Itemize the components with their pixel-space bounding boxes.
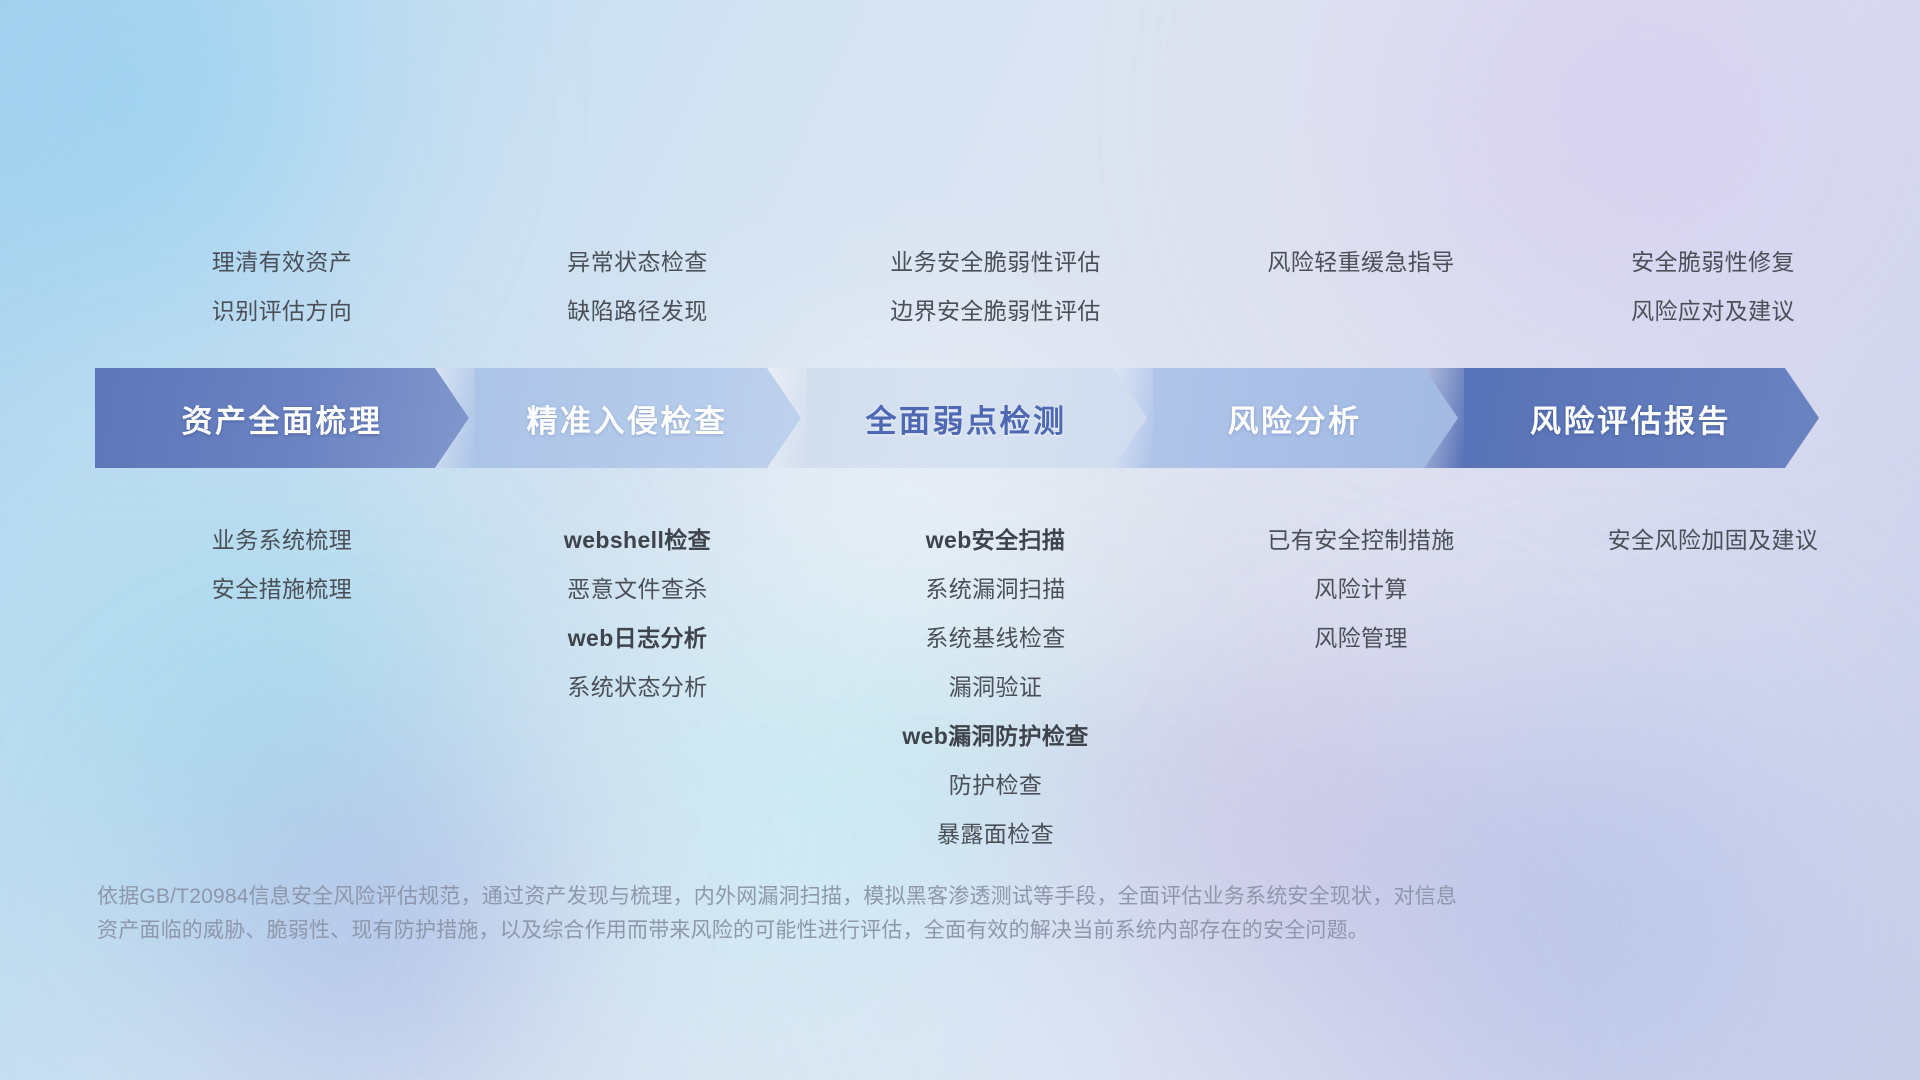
infographic-canvas: 理清有效资产 识别评估方向 异常状态检查 缺陷路径发现 业务安全脆弱性评估 边界… [0,0,1920,1080]
activity-item: 业务系统梳理 [97,516,467,565]
footer-line: 资产面临的威胁、脆弱性、现有防护措施，以及综合作用而带来风险的可能性进行评估，全… [97,914,1657,948]
activity-item: 系统漏洞扫描 [808,565,1183,614]
top-outcomes-asset-inventory: 理清有效资产 识别评估方向 [97,238,467,336]
activity-item: 暴露面检查 [808,810,1183,859]
stage-chevron-risk-analysis[interactable]: 风险分析 [1113,368,1458,468]
activity-item: 安全措施梳理 [97,565,467,614]
activity-item: web安全扫描 [808,516,1183,565]
activities-risk-analysis: 已有安全控制措施 风险计算 风险管理 [1191,516,1531,859]
top-outcome-item: 安全脆弱性修复 [1533,238,1893,287]
activities-weakness-detection: web安全扫描 系统漏洞扫描 系统基线检查 漏洞验证 web漏洞防护检查 防护检… [808,516,1183,859]
activities-risk-report: 安全风险加固及建议 [1533,516,1893,859]
activity-item: webshell检查 [465,516,810,565]
activity-item: 恶意文件查杀 [465,565,810,614]
top-outcome-item: 理清有效资产 [97,238,467,287]
stage-title: 风险分析 [1228,396,1362,441]
activity-item: web漏洞防护检查 [808,712,1183,761]
top-outcomes-risk-report: 安全脆弱性修复 风险应对及建议 [1533,238,1893,336]
top-outcome-item: 风险轻重缓急指导 [1191,238,1531,287]
stage-chevron-asset-inventory[interactable]: 资产全面梳理 [95,368,469,468]
top-outcomes-risk-analysis: 风险轻重缓急指导 [1191,238,1531,336]
top-outcome-item: 缺陷路径发现 [465,287,810,336]
activity-item: 防护检查 [808,761,1183,810]
bottom-activities-row: 业务系统梳理 安全措施梳理 webshell检查 恶意文件查杀 web日志分析 … [95,516,1885,859]
activity-item: web日志分析 [465,614,810,663]
top-outcome-item: 异常状态检查 [465,238,810,287]
activity-item: 漏洞验证 [808,663,1183,712]
stage-chevron-intrusion-check[interactable]: 精准入侵检查 [435,368,801,468]
infographic-content: 理清有效资产 识别评估方向 异常状态检查 缺陷路径发现 业务安全脆弱性评估 边界… [0,0,1920,1080]
top-outcome-item: 风险应对及建议 [1533,287,1893,336]
top-outcome-item: 识别评估方向 [97,287,467,336]
footer-description: 依据GB/T20984信息安全风险评估规范，通过资产发现与梳理，内外网漏洞扫描，… [97,880,1657,948]
top-outcomes-intrusion-check: 异常状态检查 缺陷路径发现 [465,238,810,336]
activities-asset-inventory: 业务系统梳理 安全措施梳理 [97,516,467,859]
stage-title: 资产全面梳理 [182,396,383,441]
activity-item: 安全风险加固及建议 [1533,516,1893,565]
activity-item: 风险计算 [1191,565,1531,614]
stage-chevron-weakness-detection[interactable]: 全面弱点检测 [767,368,1147,468]
top-outcome-item: 边界安全脆弱性评估 [808,287,1183,336]
process-chevron-band: 资产全面梳理 精准入侵检查 全面弱点检测 风险分析 风险评估报告 [95,368,1885,468]
activity-item: 系统状态分析 [465,663,810,712]
activity-item: 风险管理 [1191,614,1531,663]
activities-intrusion-check: webshell检查 恶意文件查杀 web日志分析 系统状态分析 [465,516,810,859]
top-outcomes-weakness-detection: 业务安全脆弱性评估 边界安全脆弱性评估 [808,238,1183,336]
stage-title: 全面弱点检测 [866,396,1067,441]
activity-item: 系统基线检查 [808,614,1183,663]
footer-line: 依据GB/T20984信息安全风险评估规范，通过资产发现与梳理，内外网漏洞扫描，… [97,880,1657,914]
top-outcome-item: 业务安全脆弱性评估 [808,238,1183,287]
stage-title: 风险评估报告 [1530,396,1731,441]
activity-item: 已有安全控制措施 [1191,516,1531,565]
stage-chevron-risk-report[interactable]: 风险评估报告 [1424,368,1819,468]
stage-title: 精准入侵检查 [527,396,728,441]
top-outcomes-row: 理清有效资产 识别评估方向 异常状态检查 缺陷路径发现 业务安全脆弱性评估 边界… [95,238,1885,336]
